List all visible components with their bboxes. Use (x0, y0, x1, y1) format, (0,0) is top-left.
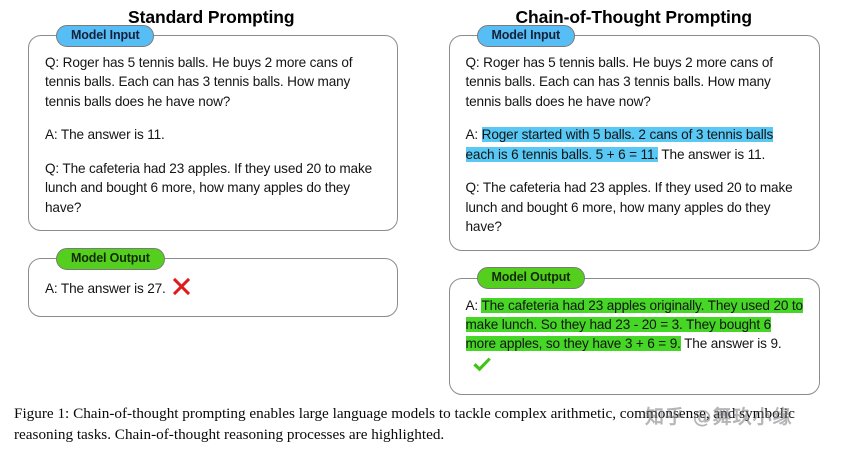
check-icon (471, 354, 493, 376)
standard-model-input-body: Q: Roger has 5 tennis balls. He buys 2 m… (29, 36, 397, 230)
prompt-paragraph: A: The answer is 27. (45, 276, 381, 302)
model-input-badge: Model Input (477, 25, 575, 47)
cot-model-output-body: A: The cafeteria had 23 apples originall… (450, 279, 820, 395)
cot-model-output-card-wrap: Model Output A: The cafeteria had 23 app… (423, 278, 845, 396)
prompt-paragraph: A: The answer is 11. (45, 125, 381, 144)
prompt-text: Q: Roger has 5 tennis balls. He buys 2 m… (466, 55, 773, 109)
prompt-text: A: (466, 298, 482, 313)
prompt-text: Q: Roger has 5 tennis balls. He buys 2 m… (45, 55, 352, 109)
prompt-text: The answer is 9. (681, 336, 782, 351)
prompt-text: The answer is 11. (658, 147, 765, 162)
prompt-text: A: The answer is 27. (45, 281, 166, 296)
model-output-badge: Model Output (477, 267, 586, 289)
prompt-paragraph: Q: The cafeteria had 23 apples. If they … (466, 178, 804, 236)
correct-mark (471, 354, 493, 381)
prompt-paragraph: Q: Roger has 5 tennis balls. He buys 2 m… (45, 53, 381, 111)
prompt-text: A: (466, 127, 482, 142)
cot-model-input-card: Model Input Q: Roger has 5 tennis balls.… (449, 35, 821, 251)
standard-model-output-card: Model Output A: The answer is 27. (28, 258, 398, 316)
column-standard-prompting: Standard Prompting Model Input Q: Roger … (0, 0, 423, 395)
figure-1-container: Standard Prompting Model Input Q: Roger … (0, 0, 845, 460)
figure-label: Figure 1: (14, 405, 69, 422)
standard-model-input-card-wrap: Model Input Q: Roger has 5 tennis balls.… (0, 35, 423, 231)
cot-model-output-card: Model Output A: The cafeteria had 23 app… (449, 278, 821, 396)
prompt-paragraph: A: The cafeteria had 23 apples originall… (466, 296, 804, 382)
prompt-text: Q: The cafeteria had 23 apples. If they … (466, 180, 793, 234)
prompt-text: Q: The cafeteria had 23 apples. If they … (45, 161, 372, 215)
model-output-badge: Model Output (56, 248, 165, 270)
prompt-paragraph: Q: Roger has 5 tennis balls. He buys 2 m… (466, 53, 804, 111)
prompt-paragraph: A: Roger started with 5 balls. 2 cans of… (466, 125, 804, 164)
figure-caption-text: Chain-of-thought prompting enables large… (14, 405, 795, 443)
model-input-badge: Model Input (56, 25, 154, 47)
incorrect-mark (171, 276, 192, 302)
prompt-paragraph: Q: The cafeteria had 23 apples. If they … (45, 159, 381, 217)
cot-model-input-body: Q: Roger has 5 tennis balls. He buys 2 m… (450, 36, 820, 250)
column-chain-of-thought-prompting: Chain-of-Thought Prompting Model Input Q… (423, 0, 845, 395)
cross-icon (171, 276, 192, 297)
cot-model-input-card-wrap: Model Input Q: Roger has 5 tennis balls.… (423, 35, 845, 251)
prompt-text: A: The answer is 11. (45, 127, 165, 142)
figure-caption: Figure 1: Chain-of-thought prompting ena… (14, 404, 835, 446)
standard-model-output-card-wrap: Model Output A: The answer is 27. (0, 258, 423, 316)
standard-model-input-card: Model Input Q: Roger has 5 tennis balls.… (28, 35, 398, 231)
comparison-columns: Standard Prompting Model Input Q: Roger … (0, 0, 845, 395)
